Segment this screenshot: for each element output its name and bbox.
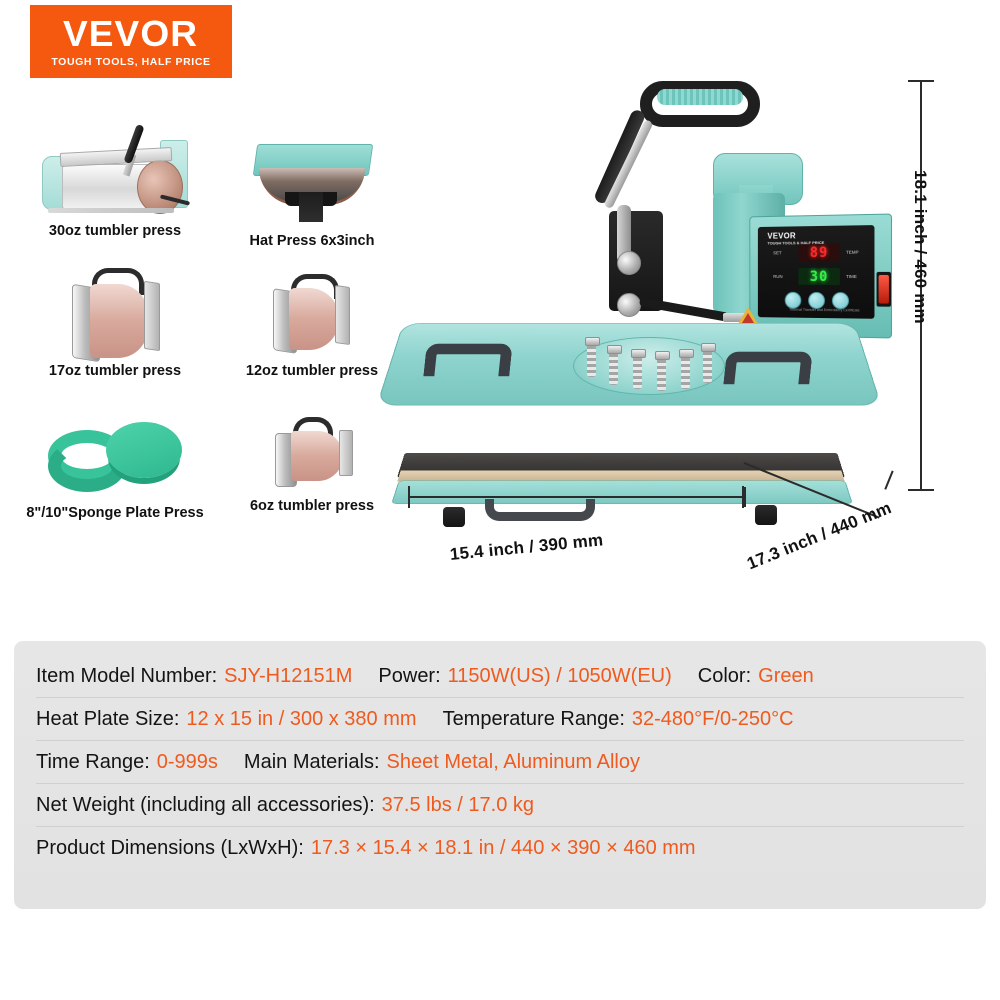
product-image-heat-press: VEVOR TOUGH TOOLS & HALF PRICE SET 89 TE…	[395, 75, 895, 545]
spec-value: Green	[758, 665, 814, 688]
spec-key: Time Range:	[36, 751, 150, 774]
sponge-plate-press-icon	[30, 402, 200, 502]
spec-key: Product Dimensions (LxWxH):	[36, 837, 304, 860]
press-spring	[633, 355, 642, 389]
spec-value: 0-999s	[157, 751, 218, 774]
press-handle-grip	[657, 89, 743, 105]
spec-row: Product Dimensions (LxWxH): 17.3 × 15.4 …	[36, 827, 964, 869]
spec-key: Item Model Number:	[36, 665, 217, 688]
spec-key: Main Materials:	[244, 751, 380, 774]
accessory-grid: 30oz tumbler press Hat Press 6x3inch	[12, 120, 412, 530]
rubber-foot	[755, 505, 777, 525]
spec-row: Item Model Number: SJY-H12151M Power: 11…	[36, 655, 964, 698]
spec-value: SJY-H12151M	[224, 665, 352, 688]
spec-value: 12 x 15 in / 300 x 380 mm	[186, 708, 416, 731]
accessory-item-30oz: 30oz tumbler press	[20, 120, 210, 240]
temp-unit-label: TEMP	[846, 250, 859, 255]
vevor-logo: VEVOR TOUGH TOOLS, HALF PRICE	[30, 5, 232, 78]
tumbler-press-17oz-icon	[30, 260, 200, 360]
hat-press-icon	[227, 130, 397, 230]
set-button[interactable]	[785, 292, 802, 309]
accessory-label: 30oz tumbler press	[20, 224, 210, 240]
specifications-panel: Item Model Number: SJY-H12151M Power: 11…	[14, 641, 986, 909]
timer-display: 30	[798, 268, 840, 285]
logo-wordmark: VEVOR	[64, 16, 199, 52]
rubber-foot	[443, 507, 465, 527]
spec-key: Heat Plate Size:	[36, 708, 179, 731]
power-switch[interactable]	[877, 272, 891, 307]
spec-key: Color:	[698, 665, 751, 688]
spec-row: Time Range: 0-999s Main Materials: Sheet…	[36, 741, 964, 784]
temp-set-label: SET	[773, 250, 781, 255]
spec-value: 17.3 × 15.4 × 18.1 in / 440 × 390 × 460 …	[311, 837, 696, 860]
platen-side-handle-left[interactable]	[423, 344, 512, 377]
spring-cap	[701, 343, 716, 352]
spring-cap	[607, 345, 622, 354]
spec-row: Heat Plate Size: 12 x 15 in / 300 x 380 …	[36, 698, 964, 741]
press-spring	[681, 355, 690, 389]
time-run-label: RUN	[773, 274, 782, 279]
accessory-item-6oz: 6oz tumbler press	[217, 395, 407, 515]
press-bolt-icon	[617, 293, 641, 317]
spec-row: Net Weight (including all accessories): …	[36, 784, 964, 827]
tumbler-press-30oz-icon	[30, 120, 200, 220]
spec-key: Net Weight (including all accessories):	[36, 794, 375, 817]
up-button[interactable]	[808, 292, 825, 309]
spring-cap	[585, 337, 600, 346]
time-unit-label: TIME	[846, 274, 857, 279]
dimension-height-label: 18.1 inch / 460 mm	[910, 170, 930, 324]
accessory-label: 8"/10"Sponge Plate Press	[20, 506, 210, 522]
control-box: VEVOR TOUGH TOOLS & HALF PRICE SET 89 TE…	[749, 214, 892, 339]
accessory-label: 17oz tumbler press	[20, 364, 210, 380]
down-button[interactable]	[832, 292, 849, 309]
spec-value: 1150W(US) / 1050W(EU)	[448, 665, 672, 688]
panel-footer-text: Thermal Transfer and Embroidery Certific…	[775, 308, 874, 314]
press-spring	[703, 349, 712, 383]
tumbler-press-12oz-icon	[227, 260, 397, 360]
spec-value: Sheet Metal, Aluminum Alloy	[387, 751, 640, 774]
accessory-label: 6oz tumbler press	[217, 499, 407, 515]
accessory-label: Hat Press 6x3inch	[217, 234, 407, 250]
temperature-display: 89	[798, 244, 840, 261]
press-spring	[587, 343, 596, 377]
spec-value: 32-480°F/0-250°C	[632, 708, 794, 731]
press-spring	[657, 357, 666, 391]
product-infographic: VEVOR TOUGH TOOLS, HALF PRICE 30oz tum	[0, 0, 1000, 1000]
spec-key: Power:	[378, 665, 440, 688]
accessory-item-hat-press: Hat Press 6x3inch	[217, 130, 407, 250]
control-panel: VEVOR TOUGH TOOLS & HALF PRICE SET 89 TE…	[758, 225, 875, 319]
base-front-handle[interactable]	[485, 499, 595, 521]
lower-platen-base	[391, 480, 853, 503]
accessory-item-12oz: 12oz tumbler press	[217, 260, 407, 380]
spring-cap	[679, 349, 694, 358]
accessory-label: 12oz tumbler press	[217, 364, 407, 380]
spec-value: 37.5 lbs / 17.0 kg	[382, 794, 534, 817]
spec-key: Temperature Range:	[443, 708, 625, 731]
accessory-item-17oz: 17oz tumbler press	[20, 260, 210, 380]
accessory-item-sponge-plate: 8"/10"Sponge Plate Press	[20, 402, 210, 522]
platen-side-handle-right[interactable]	[723, 352, 812, 385]
spring-cap	[631, 349, 646, 358]
spring-cap	[655, 351, 670, 360]
logo-tagline: TOUGH TOOLS, HALF PRICE	[51, 57, 210, 68]
press-spring	[609, 351, 618, 385]
tumbler-press-6oz-icon	[227, 395, 397, 495]
panel-brand-text: VEVOR	[767, 231, 796, 240]
press-bolt-icon	[617, 251, 641, 275]
